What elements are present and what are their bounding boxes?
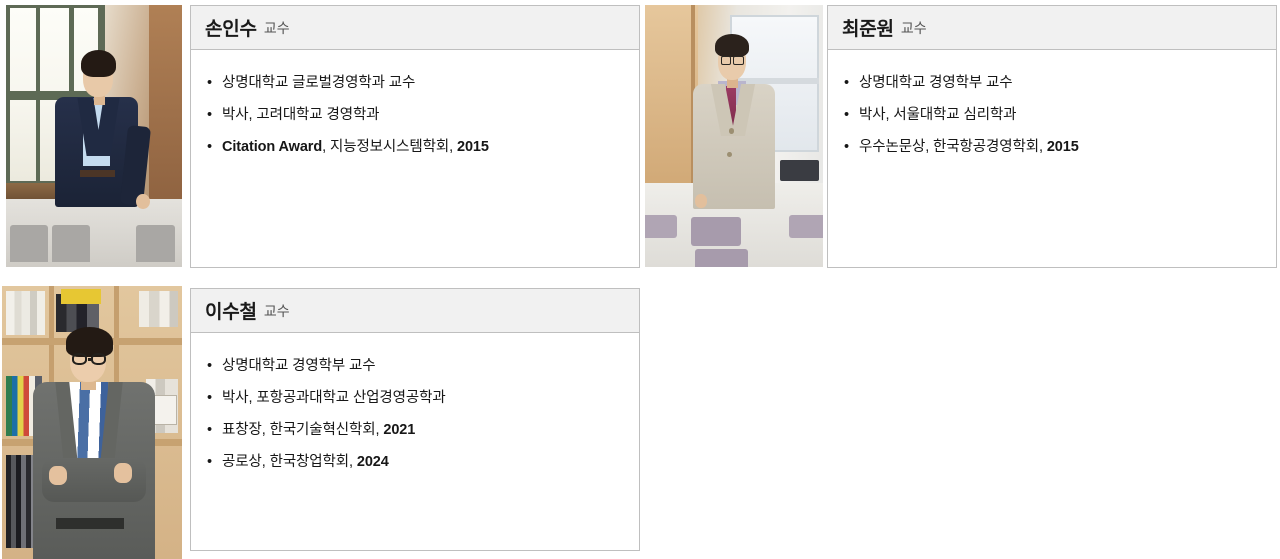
professor-photo [645, 5, 823, 267]
credential-text: 박사, 포항공과대학교 산업경영공학과 [222, 390, 446, 406]
award-society: 우수논문상, 한국항공경영학회, [859, 139, 1047, 155]
profile-info-card: 최준원 교수 • 상명대학교 경영학부 교수 • 박사, 서울대학교 심리학과 … [827, 5, 1277, 268]
faculty-profiles-page: 손인수 교수 • 상명대학교 글로벌경영학과 교수 • 박사, 고려대학교 경영… [0, 0, 1280, 559]
credentials-list: • 상명대학교 경영학부 교수 • 박사, 서울대학교 심리학과 • 우수논문상… [842, 67, 1262, 163]
award-society: , 지능정보시스템학회, [322, 139, 457, 155]
credential-text: 상명대학교 글로벌경영학과 교수 [222, 75, 415, 91]
list-item: • 상명대학교 경영학부 교수 [205, 350, 625, 382]
photo-scene-beige-jacket [645, 5, 823, 267]
profile-header: 최준원 교수 [828, 6, 1276, 50]
credential-text: 박사, 서울대학교 심리학과 [859, 107, 1016, 123]
photo-person-hair [66, 327, 113, 357]
photo-person-hand [49, 466, 67, 485]
photo-eyeglasses [72, 353, 87, 366]
award-year: 2015 [457, 139, 489, 155]
photo-books [6, 291, 46, 335]
list-item: • 박사, 포항공과대학교 산업경영공학과 [205, 382, 625, 414]
list-item: • 상명대학교 글로벌경영학과 교수 [205, 67, 625, 99]
photo-chair [52, 225, 91, 262]
bullet-icon: • [207, 99, 212, 131]
bullet-icon: • [207, 350, 212, 382]
bullet-icon: • [844, 131, 849, 163]
bullet-icon: • [207, 67, 212, 99]
photo-person-belt [56, 518, 124, 529]
bullet-icon: • [207, 382, 212, 414]
photo-chair [691, 217, 741, 246]
photo-person-belt [80, 170, 115, 177]
bullet-icon: • [207, 131, 212, 163]
photo-wooden-door [149, 5, 182, 209]
credentials-list: • 상명대학교 글로벌경영학과 교수 • 박사, 고려대학교 경영학과 • Ci… [205, 67, 625, 163]
credential-text: 박사, 고려대학교 경영학과 [222, 107, 379, 123]
credentials-list: • 상명대학교 경영학부 교수 • 박사, 포항공과대학교 산업경영공학과 • … [205, 350, 625, 478]
profile-info-card: 이수철 교수 • 상명대학교 경영학부 교수 • 박사, 포항공과대학교 산업경… [190, 288, 640, 551]
photo-chair [695, 249, 748, 267]
list-item: • 공로상, 한국창업학회, 2024 [205, 446, 625, 478]
award-year: 2015 [1047, 139, 1079, 155]
credential-text: 상명대학교 경영학부 교수 [222, 358, 376, 374]
photo-person-hair [81, 50, 116, 78]
professor-title: 교수 [264, 301, 290, 321]
photo-chair [645, 215, 677, 239]
photo-chair [789, 215, 823, 239]
award-year: 2024 [357, 454, 389, 470]
list-item: • 박사, 고려대학교 경영학과 [205, 99, 625, 131]
photo-eyeglasses [91, 353, 106, 366]
profile-header: 이수철 교수 [191, 289, 639, 333]
list-item: • Citation Award, 지능정보시스템학회, 2015 [205, 131, 625, 163]
credential-text: 상명대학교 경영학부 교수 [859, 75, 1013, 91]
photo-person-hair [715, 34, 749, 58]
list-item: • 상명대학교 경영학부 교수 [842, 67, 1262, 99]
photo-yellow-book [61, 289, 101, 304]
professor-title: 교수 [264, 18, 290, 38]
award-society: 표창장, 한국기술혁신학회, [222, 422, 383, 438]
photo-picture-frame [153, 395, 176, 425]
bullet-icon: • [844, 99, 849, 131]
professor-photo [6, 5, 182, 267]
profile-body: • 상명대학교 글로벌경영학과 교수 • 박사, 고려대학교 경영학과 • Ci… [191, 50, 639, 173]
list-item: • 우수논문상, 한국항공경영학회, 2015 [842, 131, 1262, 163]
award-name: Citation Award [222, 139, 322, 155]
bullet-icon: • [844, 67, 849, 99]
photo-books [139, 291, 179, 326]
photo-eyeglasses [733, 56, 744, 65]
profile-body: • 상명대학교 경영학부 교수 • 박사, 서울대학교 심리학과 • 우수논문상… [828, 50, 1276, 173]
profile-info-card: 손인수 교수 • 상명대학교 글로벌경영학과 교수 • 박사, 고려대학교 경영… [190, 5, 640, 268]
professor-name: 손인수 [205, 14, 257, 41]
professor-photo [2, 286, 182, 559]
professor-name: 이수철 [205, 297, 257, 324]
photo-scene-bookshelf [2, 286, 182, 559]
photo-jacket-button [729, 128, 734, 134]
photo-eyeglasses [721, 56, 732, 65]
photo-scene-navy-suit [6, 5, 182, 267]
list-item: • 박사, 서울대학교 심리학과 [842, 99, 1262, 131]
bullet-icon: • [207, 446, 212, 478]
list-item: • 표창장, 한국기술혁신학회, 2021 [205, 414, 625, 446]
photo-laptop [780, 160, 819, 181]
bullet-icon: • [207, 414, 212, 446]
professor-title: 교수 [901, 18, 927, 38]
photo-eyeglasses-bridge [88, 358, 93, 361]
photo-chair [10, 225, 49, 262]
profile-body: • 상명대학교 경영학부 교수 • 박사, 포항공과대학교 산업경영공학과 • … [191, 333, 639, 488]
award-year: 2021 [383, 422, 415, 438]
photo-chair [136, 225, 175, 262]
award-society: 공로상, 한국창업학회, [222, 454, 357, 470]
photo-person-hand [695, 194, 707, 208]
photo-person-hand [114, 463, 132, 482]
profile-header: 손인수 교수 [191, 6, 639, 50]
professor-name: 최준원 [842, 14, 894, 41]
